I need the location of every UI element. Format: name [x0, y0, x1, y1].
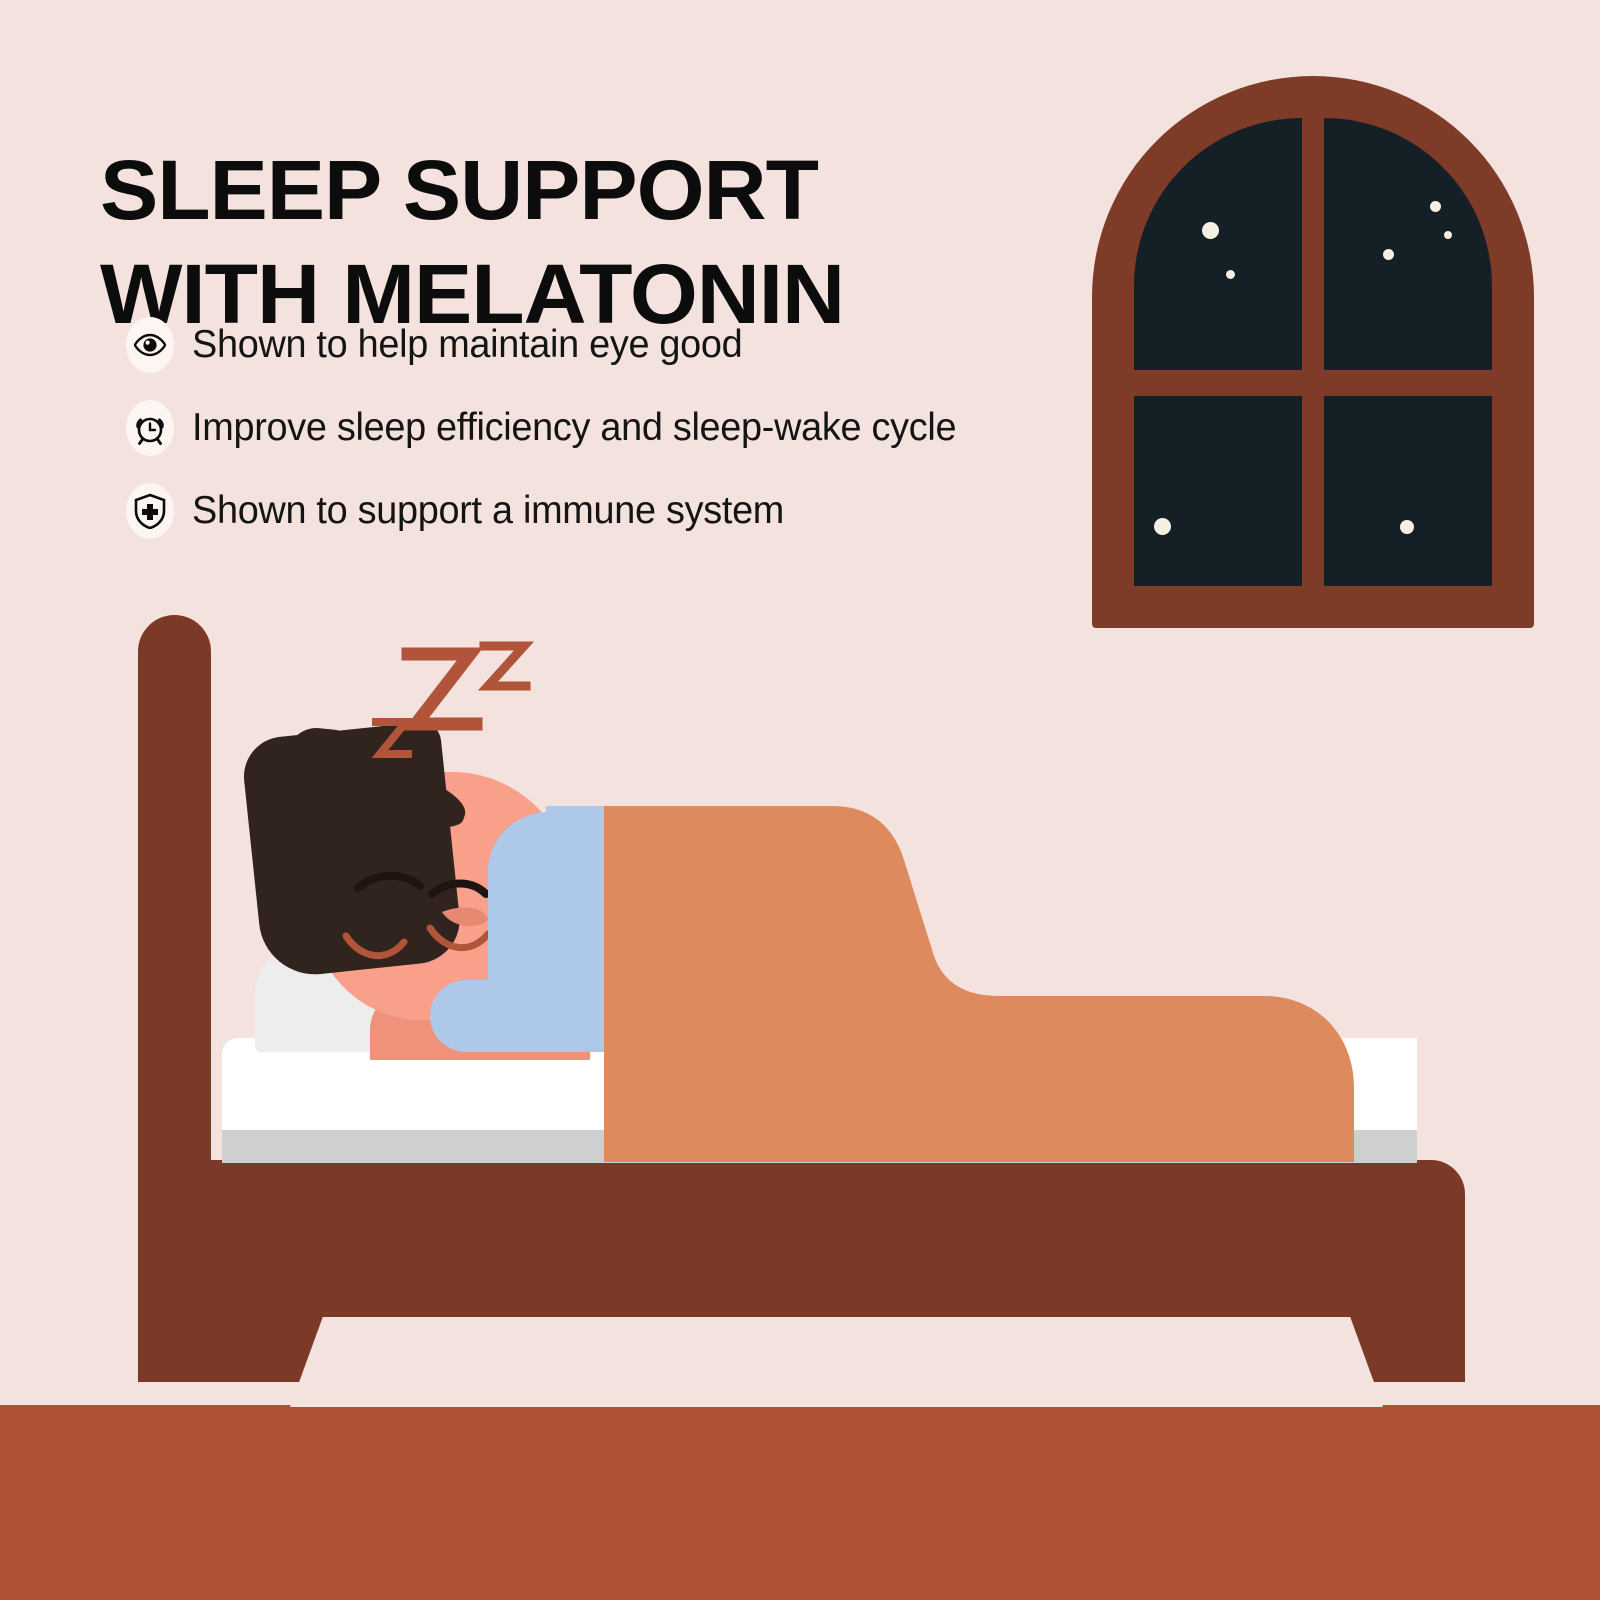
shield-plus-icon	[126, 483, 174, 539]
window-pane-bottom-left	[1134, 396, 1302, 586]
star-icon	[1383, 249, 1394, 260]
night-window	[1092, 76, 1534, 628]
headboard	[138, 615, 211, 1175]
benefit-list: Shown to help maintain eye good Improve …	[126, 306, 1126, 555]
zzz-icon	[372, 638, 552, 768]
star-icon	[1226, 270, 1235, 279]
benefit-label: Shown to support a immune system	[192, 489, 784, 533]
poster-canvas: SLEEP SUPPORT WITH MELATONIN Shown to he…	[0, 0, 1600, 1600]
star-icon	[1154, 518, 1171, 535]
list-item: Shown to help maintain eye good	[126, 306, 1126, 384]
benefit-label: Improve sleep efficiency and sleep-wake …	[192, 406, 956, 450]
list-item: Improve sleep efficiency and sleep-wake …	[126, 389, 1126, 467]
benefit-label: Shown to help maintain eye good	[192, 323, 742, 367]
floor	[0, 1405, 1600, 1600]
star-icon	[1400, 520, 1414, 534]
bed-leg-gap	[290, 1317, 1383, 1407]
window-pane-bottom-right	[1324, 396, 1492, 586]
alarm-clock-icon	[126, 400, 174, 456]
star-icon	[1202, 222, 1219, 239]
blanket	[604, 806, 1354, 1162]
eye-icon	[126, 317, 174, 373]
list-item: Shown to support a immune system	[126, 472, 1126, 550]
page-title-line-1: SLEEP SUPPORT	[100, 138, 1119, 242]
star-icon	[1430, 201, 1441, 212]
star-icon	[1444, 231, 1452, 239]
